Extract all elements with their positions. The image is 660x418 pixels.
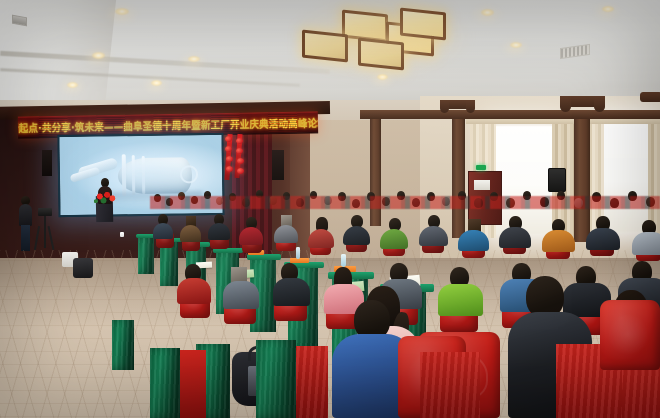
downlight-icon: [92, 52, 105, 59]
downlight-icon: [151, 80, 162, 86]
exit-sign-icon: [476, 165, 486, 170]
ceiling-lamp-cluster: [300, 2, 490, 70]
column-bracket: [640, 92, 660, 102]
wood-beam: [360, 110, 660, 119]
chair: [600, 300, 660, 370]
flower-arrangement: [92, 190, 118, 206]
tripod: [44, 214, 46, 248]
lantern-icon: [237, 168, 244, 174]
downlight-icon: [510, 42, 522, 48]
audience-torso: [180, 225, 201, 242]
table-skirt: [150, 348, 180, 418]
operator-legs: [21, 225, 30, 251]
audience-torso: [458, 230, 489, 251]
conference-hall-photo: 新起点·共分享·筑未来——曲阜圣德十周年暨新工厂开业庆典活动高峰论坛: [0, 0, 660, 418]
stage-loudspeaker-icon: [272, 150, 284, 180]
audience-torso: [177, 278, 211, 304]
audience-torso: [419, 226, 448, 246]
led-banner-text: 新起点·共分享·筑未来——曲阜圣德十周年暨新工厂开业庆典活动高峰论坛: [18, 114, 318, 135]
lamp-cluster-glow: [280, 0, 480, 86]
lantern-cluster: [224, 134, 252, 184]
downlight-icon: [115, 8, 129, 15]
audience-torso: [586, 228, 620, 250]
chair-cover-skirt: [420, 352, 480, 418]
stage-loudspeaker-icon: [42, 150, 52, 176]
paper-cup: [120, 232, 124, 237]
column-bracket-arm: [440, 100, 449, 113]
column-bracket-arm: [594, 96, 605, 112]
lantern-icon: [237, 158, 244, 164]
audience-torso: [380, 229, 408, 249]
camera-operator: [18, 196, 34, 252]
operator-torso: [19, 204, 32, 226]
audience-torso: [274, 225, 298, 243]
lantern-icon: [226, 166, 233, 172]
lantern-icon: [236, 148, 243, 154]
lantern-icon: [226, 156, 233, 162]
audience-torso: [223, 281, 259, 309]
lantern-icon: [225, 136, 232, 142]
audience-torso: [273, 278, 310, 306]
downlight-icon: [67, 82, 78, 88]
column-bracket-arm: [560, 96, 571, 112]
audience-torso: [542, 230, 575, 252]
table-skirt: [112, 320, 134, 370]
audience-torso: [499, 227, 531, 248]
downlight-icon: [188, 56, 200, 62]
table-skirt: [256, 340, 296, 418]
column-bracket-arm: [466, 100, 475, 113]
downlight-icon: [602, 6, 614, 12]
audience-torso: [308, 229, 334, 248]
lantern-icon: [236, 138, 243, 144]
lantern-icon: [225, 146, 232, 152]
luggage-bag: [73, 258, 93, 278]
video-camera-icon: [38, 208, 52, 216]
audience-torso: [208, 223, 230, 240]
audience-torso: [343, 226, 370, 245]
red-chair-cover: [180, 350, 206, 418]
audience-torso: [153, 223, 173, 239]
audience-torso: [239, 227, 263, 245]
